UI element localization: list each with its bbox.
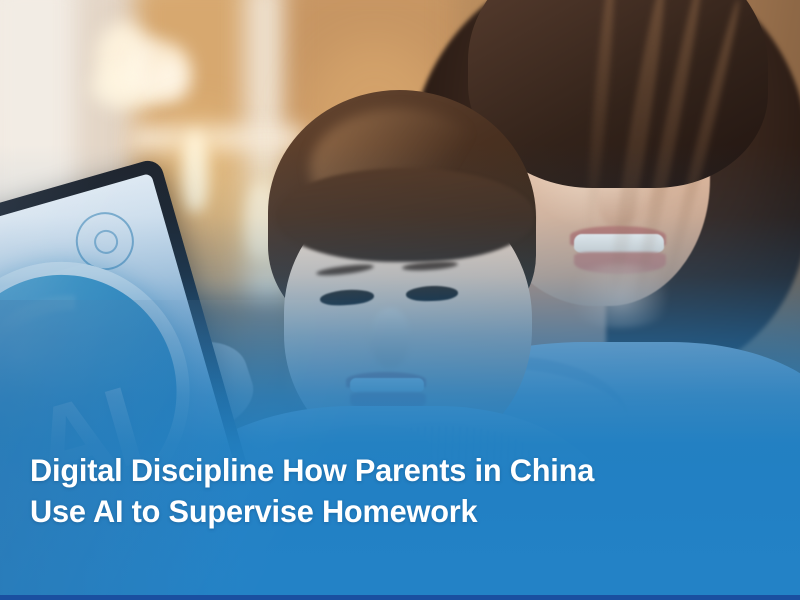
headline-title: Digital Discipline How Parents in China … bbox=[30, 450, 742, 532]
bottom-accent-bar bbox=[0, 595, 800, 600]
banner-canvas: A AI Digital Discipline How Parents in C… bbox=[0, 0, 800, 600]
